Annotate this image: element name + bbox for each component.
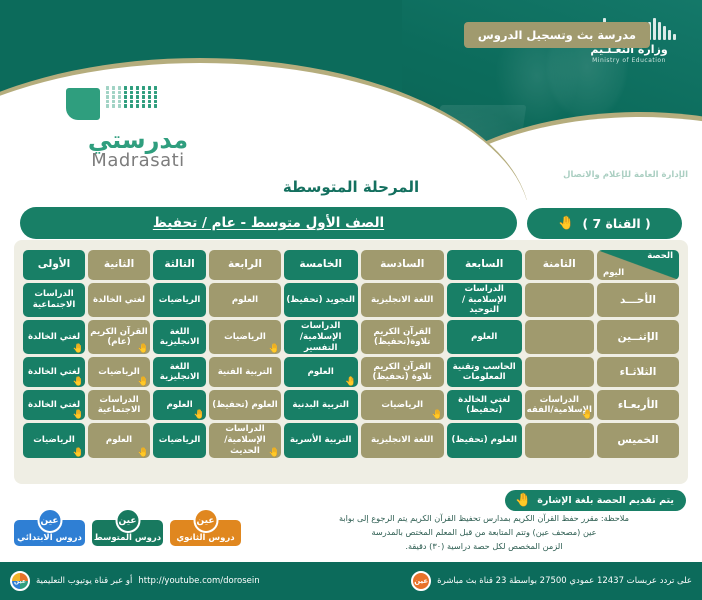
ein-badge-icon: عين — [37, 508, 62, 533]
youtube-url[interactable]: http://youtube.com/dorosein — [138, 576, 259, 586]
hand-icon: 🤚 — [73, 378, 84, 387]
ein-button-label: دروس الابتدائي — [17, 533, 82, 543]
broadcast-text: على تردد عربسات 12437 عمودي 27500 بواسطة… — [437, 576, 692, 586]
note-line-1: ملاحظة: مقرر حفظ القرآن الكريم بمدارس تح… — [284, 512, 684, 526]
subject-cell-r1-p2: لغتي الخالدة — [88, 283, 150, 317]
madrasati-dot-grid — [104, 86, 157, 108]
hand-icon: 🤚 — [73, 449, 84, 458]
broadcast-info: عين على تردد عربسات 12437 عمودي 27500 بو… — [411, 571, 692, 591]
hand-icon: 🤚 — [138, 378, 149, 387]
hand-icon: 🤚 — [582, 411, 593, 420]
period-header-1: الأولى — [23, 250, 85, 280]
period-header-4: الرابعة — [209, 250, 281, 280]
period-day-corner-cell: الحصة اليوم — [597, 250, 679, 280]
period-header-6: السادسة — [361, 250, 444, 280]
ein-button-2[interactable]: عيندروس المتوسط — [92, 520, 163, 546]
subject-cell-r2-p6: القرآن الكريم تلاوة(تحفيظ) — [361, 320, 444, 354]
general-administration-watermark: الإدارة العامة للإعلام والاتصال — [563, 170, 688, 180]
subject-cell-r5-p4: الدراسات الإسلامية/الحديث🤚 — [209, 423, 281, 457]
subject-cell-r3-p8 — [525, 357, 594, 387]
table-header-row: الحصة اليوم الثامنةالسابعةالسادسةالخامسة… — [23, 250, 679, 280]
subject-cell-r3-p4: التربية الفنية — [209, 357, 281, 387]
channel-label: ( القناة 7 ) — [582, 216, 650, 231]
hand-icon: 🤚 — [138, 345, 149, 354]
ein-channel-buttons: عيندروس الابتدائيعيندروس المتوسطعيندروس … — [14, 520, 241, 546]
table-row: الثلاثـاءالحاسب وتقنية المعلوماتالقرآن ا… — [23, 357, 679, 387]
subject-cell-r1-p5: التجويد (تحفيظ) — [284, 283, 358, 317]
period-header-2: الثانية — [88, 250, 150, 280]
subject-cell-r1-p8 — [525, 283, 594, 317]
subject-cell-r4-p3: العلوم🤚 — [153, 390, 206, 420]
subject-cell-r3-p2: الرياضيات🤚 — [88, 357, 150, 387]
youtube-text: أو عبر قناة يوتيوب التعليمية — [36, 576, 132, 586]
subject-cell-r2-p1: لغتي الخالدة🤚 — [23, 320, 85, 354]
youtube-info[interactable]: عين أو عبر قناة يوتيوب التعليمية http://… — [10, 571, 260, 591]
hand-icon: 🤚 — [73, 411, 84, 420]
subject-cell-r2-p2: القرآن الكريم (عام)🤚 — [88, 320, 150, 354]
day-label-4: الأربعـاء — [597, 390, 679, 420]
table-row: الإثنــينالعلومالقرآن الكريم تلاوة(تحفيظ… — [23, 320, 679, 354]
corner-day-label: اليوم — [603, 268, 624, 279]
schedule-table: الحصة اليوم الثامنةالسابعةالسادسةالخامسة… — [20, 247, 682, 461]
ein-badge-icon: عين — [115, 508, 140, 533]
class-name-label: الصف الأول متوسط - عام / تحفيظ — [153, 215, 384, 231]
hand-icon: 🤚 — [73, 345, 84, 354]
day-label-5: الخميس — [597, 423, 679, 457]
schedule-table-head: الحصة اليوم الثامنةالسابعةالسادسةالخامسة… — [23, 250, 679, 280]
schedule-panel: الحصة اليوم الثامنةالسابعةالسادسةالخامسة… — [14, 240, 688, 484]
table-row: الخميسالعلوم (تحفيظ)اللغة الانجليزيةالتر… — [23, 423, 679, 457]
subject-cell-r5-p6: اللغة الانجليزية — [361, 423, 444, 457]
note-line-3: الزمن المخصص لكل حصة دراسية (٣٠) دقيقة. — [284, 540, 684, 554]
subject-cell-r3-p7: الحاسب وتقنية المعلومات — [447, 357, 522, 387]
subject-cell-r5-p1: الرياضيات🤚 — [23, 423, 85, 457]
subject-cell-r2-p5: الدراسات الإسلامية/التفسير — [284, 320, 358, 354]
subject-cell-r3-p5: العلوم🤚 — [284, 357, 358, 387]
youtube-icon: عين — [10, 571, 30, 591]
madrasati-mark-icon — [48, 86, 228, 128]
hand-icon: 🤚 — [345, 378, 356, 387]
subject-cell-r1-p6: اللغة الانجليزية — [361, 283, 444, 317]
bottom-bar: عين على تردد عربسات 12437 عمودي 27500 بو… — [0, 562, 702, 600]
subject-cell-r4-p1: لغتي الخالدة🤚 — [23, 390, 85, 420]
madrasati-book-shape — [66, 88, 100, 120]
hand-icon: 🤚 — [269, 449, 280, 458]
ein-badge-icon: عين — [193, 508, 218, 533]
class-title-row: الصف الأول متوسط - عام / تحفيظ 🤚 ( القنا… — [0, 207, 702, 239]
sign-language-badge: 🤚 يتم تقديم الحصة بلغة الإشارة — [505, 490, 686, 511]
hand-icon: 🤚 — [269, 345, 280, 354]
subject-cell-r4-p2: الدراسات الاجتماعية — [88, 390, 150, 420]
subject-cell-r2-p8 — [525, 320, 594, 354]
subject-cell-r3-p6: القرآن الكريم تلاوة (تحفيظ) — [361, 357, 444, 387]
madrasati-logo: مدرستي Madrasati — [48, 86, 228, 171]
subject-cell-r4-p5: التربية البدنية — [284, 390, 358, 420]
sign-language-label: يتم تقديم الحصة بلغة الإشارة — [537, 495, 674, 506]
subject-cell-r5-p5: التربية الأسرية — [284, 423, 358, 457]
day-label-2: الإثنــين — [597, 320, 679, 354]
subject-cell-r1-p1: الدراسات الاجتماعية — [23, 283, 85, 317]
table-row: الأحـــدالدراسات الإسلامية / التوحيداللغ… — [23, 283, 679, 317]
period-header-3: الثالثة — [153, 250, 206, 280]
period-header-7: السابعة — [447, 250, 522, 280]
subject-cell-r5-p7: العلوم (تحفيظ) — [447, 423, 522, 457]
ein-button-label: دروس الثانوي — [176, 533, 234, 543]
hand-icon: 🤚 — [515, 494, 531, 507]
table-row: الأربعـاءالدراسات الإسلامية/الفقه🤚لغتي ا… — [23, 390, 679, 420]
period-header-8: الثامنة — [525, 250, 594, 280]
subject-cell-r1-p4: العلوم — [209, 283, 281, 317]
subject-cell-r2-p4: الرياضيات🤚 — [209, 320, 281, 354]
hand-icon: 🤚 — [558, 217, 574, 230]
subject-cell-r3-p3: اللغة الانجليزية — [153, 357, 206, 387]
subject-cell-r1-p7: الدراسات الإسلامية / التوحيد — [447, 283, 522, 317]
broadcast-school-badge: مدرسة بث وتسجيل الدروس — [464, 22, 650, 48]
ein-button-3[interactable]: عيندروس الثانوي — [170, 520, 241, 546]
subject-cell-r4-p7: لغتي الخالدة (تحفيظ) — [447, 390, 522, 420]
day-label-3: الثلاثـاء — [597, 357, 679, 387]
hand-icon: 🤚 — [194, 411, 205, 420]
stage-title: المرحلة المتوسطة — [0, 178, 702, 196]
subject-cell-r5-p3: الرياضيات — [153, 423, 206, 457]
period-header-5: الخامسة — [284, 250, 358, 280]
subject-cell-r5-p8 — [525, 423, 594, 457]
corner-period-label: الحصة — [647, 251, 673, 262]
hand-icon: 🤚 — [432, 411, 443, 420]
note-line-2: عين (مصحف عين) وتتم المتابعة من قبل المع… — [284, 526, 684, 540]
ein-button-label: دروس المتوسط — [94, 533, 161, 543]
ein-badge-icon: عين — [411, 571, 431, 591]
madrasati-name-english: Madrasati — [48, 150, 228, 171]
subject-cell-r1-p3: الرياضيات — [153, 283, 206, 317]
schedule-table-body: الأحـــدالدراسات الإسلامية / التوحيداللغ… — [23, 283, 679, 458]
channel-pill: 🤚 ( القناة 7 ) — [527, 208, 682, 239]
subject-cell-r2-p7: العلوم — [447, 320, 522, 354]
subject-cell-r4-p8: الدراسات الإسلامية/الفقه🤚 — [525, 390, 594, 420]
ein-button-1[interactable]: عيندروس الابتدائي — [14, 520, 85, 546]
ministry-name-english: Ministry of Education — [574, 57, 684, 64]
subject-cell-r4-p6: الرياضيات🤚 — [361, 390, 444, 420]
footer-notes: ملاحظة: مقرر حفظ القرآن الكريم بمدارس تح… — [284, 512, 684, 554]
hand-icon: 🤚 — [138, 449, 149, 458]
subject-cell-r5-p2: العلوم🤚 — [88, 423, 150, 457]
class-name-pill: الصف الأول متوسط - عام / تحفيظ — [20, 207, 517, 239]
subject-cell-r2-p3: اللغة الانجليزية — [153, 320, 206, 354]
subject-cell-r3-p1: لغتي الخالدة🤚 — [23, 357, 85, 387]
day-label-1: الأحـــد — [597, 283, 679, 317]
subject-cell-r4-p4: العلوم (تحفيظ) — [209, 390, 281, 420]
